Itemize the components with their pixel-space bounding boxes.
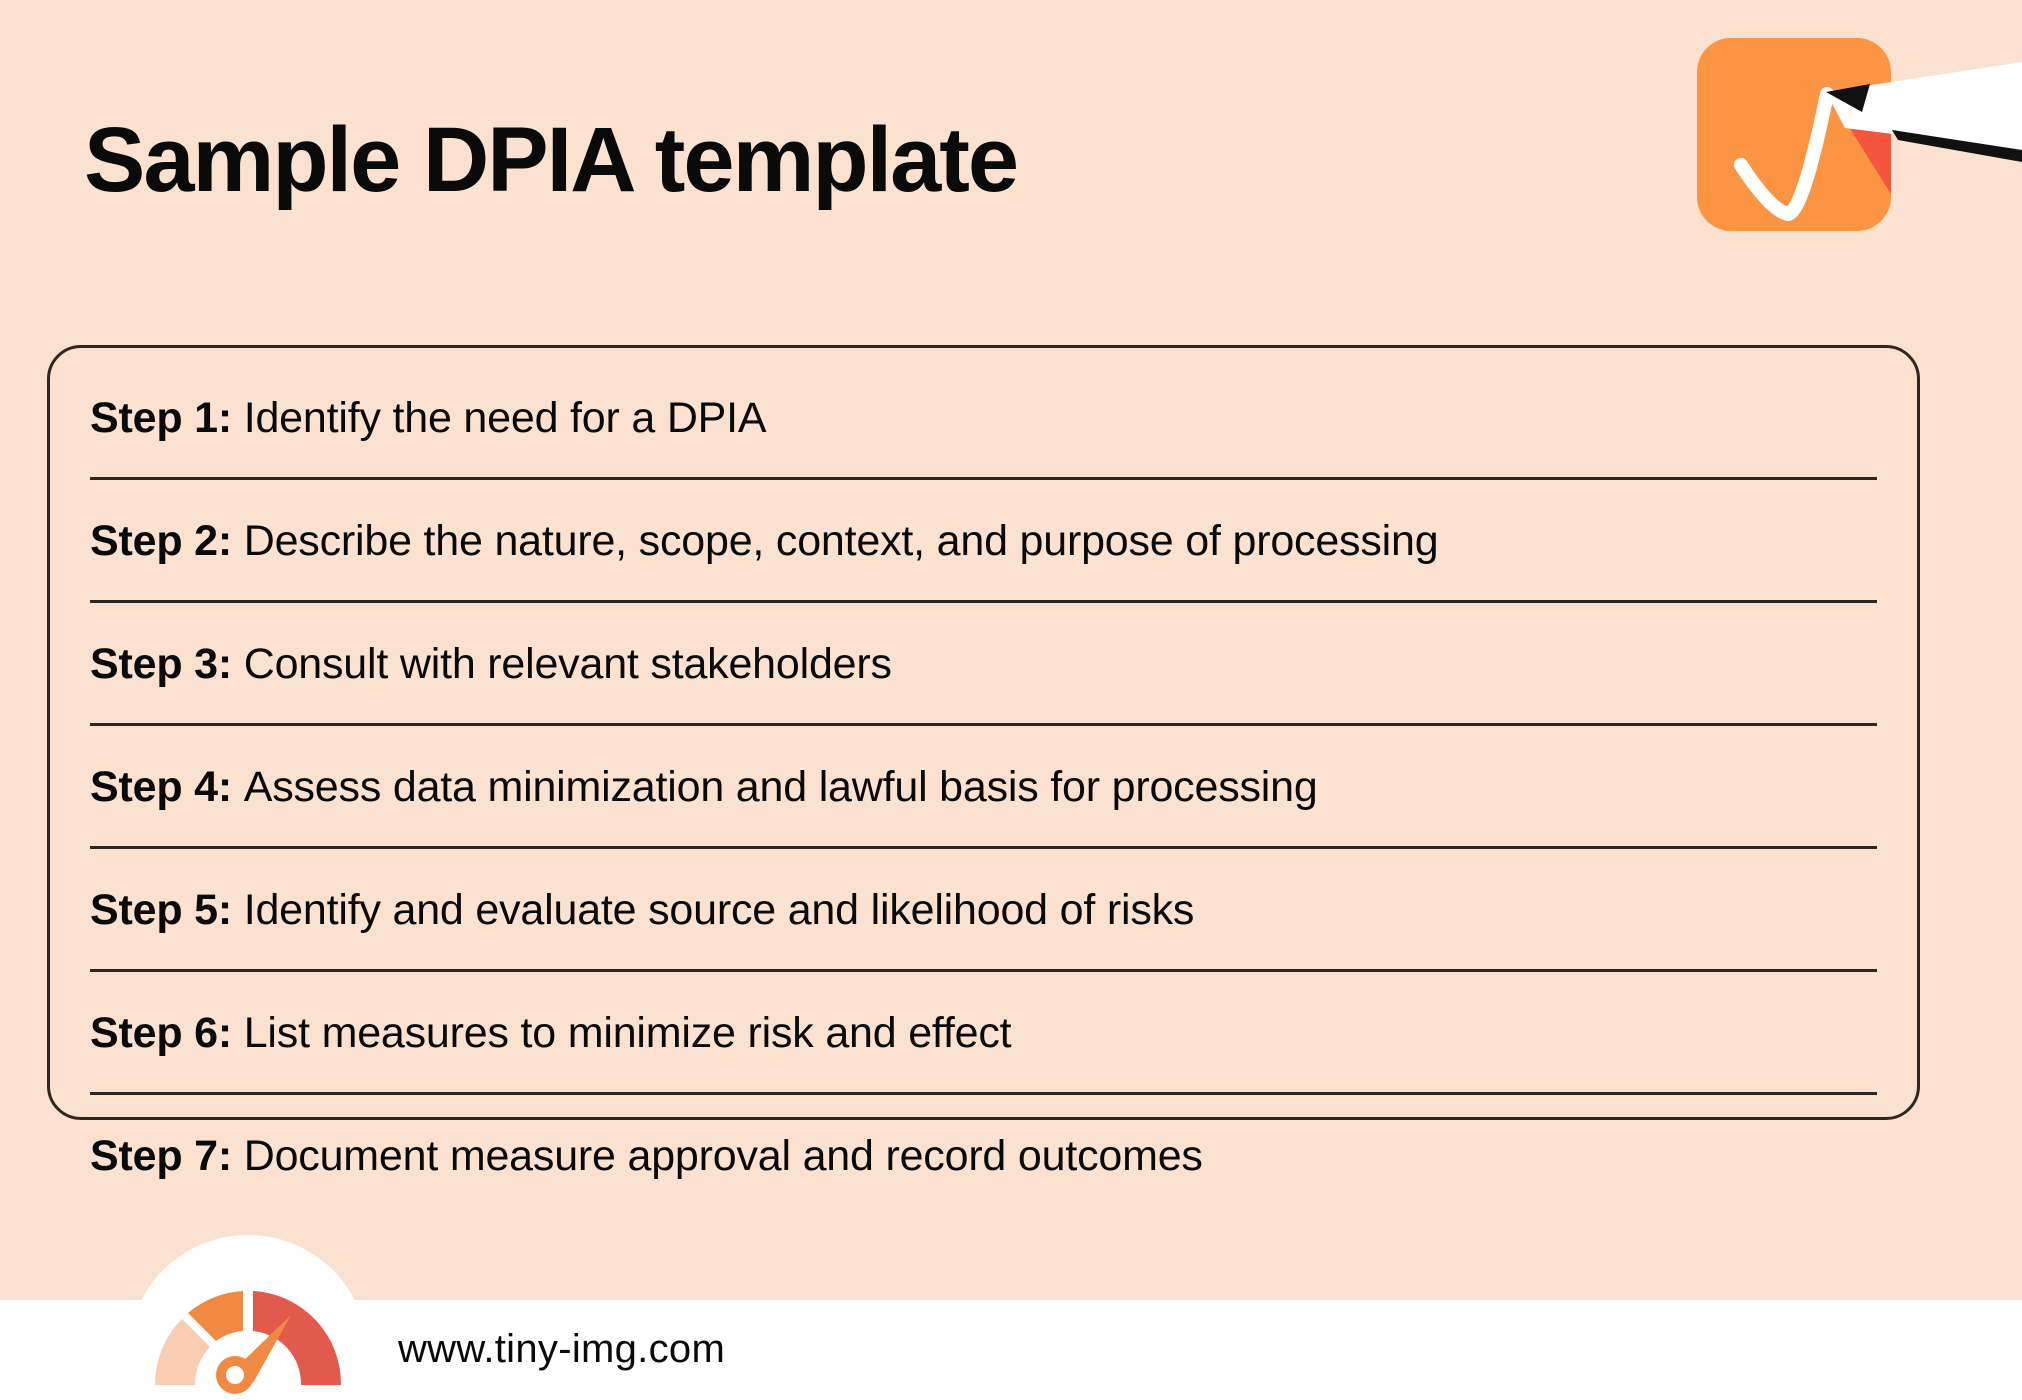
poster-canvas: Sample DPIA template Step 1:	[0, 0, 2022, 1400]
step-divider	[90, 723, 1877, 726]
step-description: List measures to minimize risk and effec…	[244, 1009, 1012, 1057]
step-row: Step 5: Identify and evaluate source and…	[90, 868, 1877, 953]
step-label: Step 4:	[90, 763, 244, 811]
step-divider	[90, 600, 1877, 603]
step-divider	[90, 846, 1877, 849]
step-description: Identify and evaluate source and likelih…	[244, 886, 1195, 934]
steps-card: Step 1: Identify the need for a DPIA Ste…	[47, 345, 1920, 1120]
step-row: Step 4: Assess data minimization and law…	[90, 745, 1877, 830]
step-text: Step 6: List measures to minimize risk a…	[90, 1009, 1011, 1058]
step-description: Consult with relevant stakeholders	[244, 640, 892, 688]
step-divider	[90, 969, 1877, 972]
step-label: Step 5:	[90, 886, 244, 934]
step-text: Step 2: Describe the nature, scope, cont…	[90, 517, 1438, 566]
step-divider	[90, 477, 1877, 480]
step-label: Step 6:	[90, 1009, 244, 1057]
checkbox-pencil-decoration	[1640, 0, 2022, 260]
footer-url[interactable]: www.tiny-img.com	[398, 1327, 725, 1372]
step-row: Step 6: List measures to minimize risk a…	[90, 991, 1877, 1076]
step-label: Step 2:	[90, 517, 244, 565]
step-text: Step 3: Consult with relevant stakeholde…	[90, 640, 892, 689]
step-description: Identify the need for a DPIA	[244, 394, 767, 442]
step-divider	[90, 1092, 1877, 1095]
step-label: Step 3:	[90, 640, 244, 688]
step-row: Step 1: Identify the need for a DPIA	[90, 376, 1877, 461]
checkbox-checked-icon	[1697, 38, 1891, 231]
pencil-icon	[1826, 62, 2022, 162]
page-title: Sample DPIA template	[84, 112, 1017, 209]
step-text: Step 1: Identify the need for a DPIA	[90, 394, 766, 443]
step-row: Step 3: Consult with relevant stakeholde…	[90, 622, 1877, 707]
step-label: Step 7:	[90, 1132, 244, 1180]
step-description: Assess data minimization and lawful basi…	[244, 763, 1318, 811]
step-text: Step 7: Document measure approval and re…	[90, 1132, 1203, 1181]
step-label: Step 1:	[90, 394, 244, 442]
step-text: Step 4: Assess data minimization and law…	[90, 763, 1318, 812]
step-description: Describe the nature, scope, context, and…	[244, 517, 1439, 565]
step-description: Document measure approval and record out…	[244, 1132, 1203, 1180]
step-text: Step 5: Identify and evaluate source and…	[90, 886, 1194, 935]
gauge-speedometer-icon	[128, 1235, 368, 1400]
step-row: Step 7: Document measure approval and re…	[90, 1114, 1877, 1199]
step-row: Step 2: Describe the nature, scope, cont…	[90, 499, 1877, 584]
